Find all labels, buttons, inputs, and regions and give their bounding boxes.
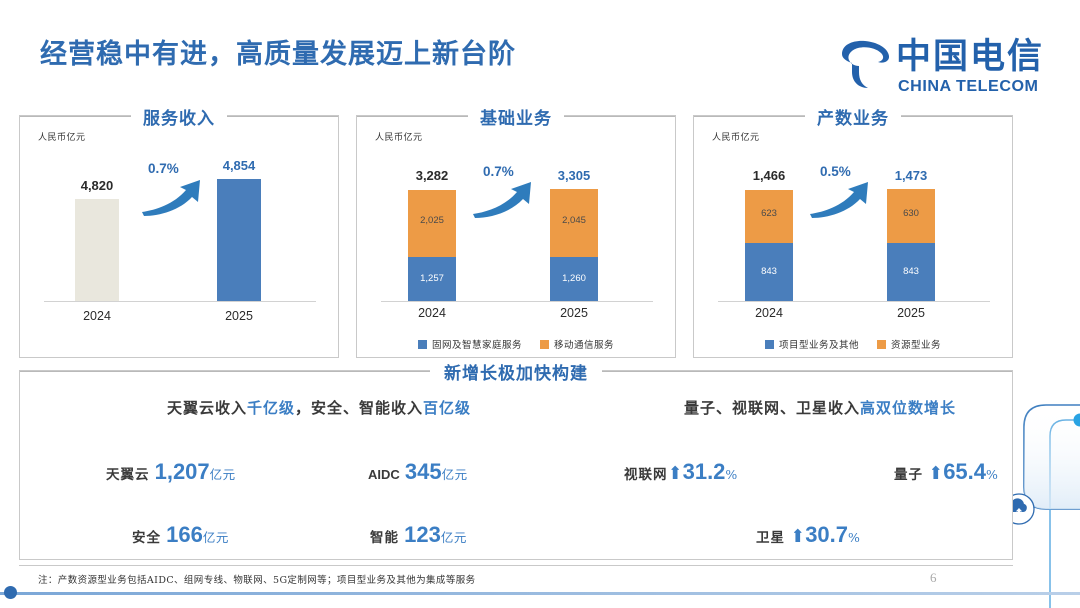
x-label-2024: 2024 — [391, 306, 473, 320]
stat-label: 量子 — [894, 467, 923, 483]
x-label-2024: 2024 — [728, 306, 810, 320]
legend-item-project: 项目型业务及其他 — [765, 337, 859, 351]
stat-unit: % — [725, 467, 737, 482]
segment-label-mobile-2025: 2,045 — [550, 215, 598, 226]
segment-label-resource-2025: 630 — [887, 208, 935, 219]
stat-value: 345 — [405, 459, 442, 484]
legend-label: 资源型业务 — [891, 337, 941, 351]
headline-left-pre: 天翼云收入 — [167, 399, 247, 417]
footnote-text: 注：产数资源型业务包括AIDC、组网专线、物联网、5G定制网等；项目型业务及其他… — [38, 572, 476, 586]
chart-card-industrial-digital: 产数业务 人民币亿元 1,466 623 843 2024 1,473 630 … — [693, 115, 1013, 358]
stat-label: 卫星 — [756, 530, 785, 546]
bar-total-label-2025: 3,305 — [533, 168, 615, 183]
stat-unit: 亿元 — [203, 530, 229, 545]
title-rule-right — [602, 371, 1012, 372]
legend-swatch-orange — [540, 340, 549, 349]
headline-right-highlight: 高双位数增长 — [860, 399, 956, 417]
growth-arrow-icon — [806, 178, 882, 220]
stat-value: 1,207 — [155, 459, 210, 484]
legend-label: 移动通信服务 — [554, 337, 614, 351]
arrow-up-icon: ⬆ — [668, 463, 683, 484]
x-label-2024: 2024 — [62, 309, 132, 323]
stat-unit: 亿元 — [210, 467, 236, 482]
chart-card-service-revenue: 服务收入 人民币亿元 4,820 2024 4,854 2025 0.7% — [19, 115, 339, 358]
stat-quantum: 量子 ⬆65.4% — [894, 459, 998, 485]
bar-total-label-2024: 4,820 — [62, 178, 132, 193]
x-label-2025: 2025 — [204, 309, 274, 323]
segment-label-resource-2024: 623 — [745, 208, 793, 219]
page-number: 6 — [930, 570, 937, 586]
stat-unit: % — [986, 467, 998, 482]
headline-right: 量子、视联网、卫星收入高双位数增长 — [620, 397, 1020, 418]
stat-unit: % — [848, 530, 860, 545]
legend-label: 项目型业务及其他 — [779, 337, 859, 351]
legend-label: 固网及智慧家庭服务 — [432, 337, 522, 351]
bottom-accent-bar — [0, 592, 1080, 595]
stat-satellite: 卫星 ⬆30.7% — [756, 522, 860, 548]
stat-unit: 亿元 — [442, 467, 468, 482]
headline-left-mid: ，安全、智能收入 — [295, 399, 423, 417]
growth-poles-panel: 新增长极加快构建 天翼云收入千亿级，安全、智能收入百亿级 量子、视联网、卫星收入… — [19, 370, 1013, 560]
bar-total-label-2024: 3,282 — [391, 168, 473, 183]
stat-label: 智能 — [370, 530, 399, 546]
stat-intelligence: 智能 123亿元 — [370, 522, 467, 548]
x-axis-line — [381, 301, 653, 302]
segment-label-fixed-2024: 1,257 — [408, 273, 456, 284]
logo-english-text: CHINA TELECOM — [898, 78, 1038, 96]
growth-arrow-icon — [469, 178, 545, 220]
legend-swatch-blue — [765, 340, 774, 349]
stat-tianyi-cloud: 天翼云 1,207亿元 — [106, 459, 236, 485]
panel-title-row: 新增长极加快构建 — [20, 359, 1012, 383]
legend-swatch-blue — [418, 340, 427, 349]
growth-label: 0.7% — [483, 164, 514, 179]
chart-legend: 项目型业务及其他 资源型业务 — [694, 337, 1012, 351]
headline-left-highlight-1: 千亿级 — [247, 399, 295, 417]
title-rule-left — [20, 371, 430, 372]
footnote-divider — [19, 565, 1013, 566]
bar-2024 — [75, 199, 119, 301]
legend-swatch-orange — [877, 340, 886, 349]
x-axis-line — [44, 301, 316, 302]
bar-total-label-2024: 1,466 — [728, 168, 810, 183]
bar-total-label-2025: 1,473 — [870, 168, 952, 183]
chart-card-basic-business: 基础业务 人民币亿元 3,282 2,025 1,257 2024 3,305 … — [356, 115, 676, 358]
plot-area: 3,282 2,025 1,257 2024 3,305 2,045 1,260… — [357, 116, 675, 357]
stat-security: 安全 166亿元 — [132, 522, 229, 548]
stat-value: 31.2 — [683, 459, 726, 484]
stat-video-network: 视联网⬆31.2% — [624, 459, 738, 485]
stat-value: 166 — [166, 522, 203, 547]
stat-unit: 亿元 — [441, 530, 467, 545]
stat-label: 视联网 — [624, 467, 668, 483]
slide-canvas: 经营稳中有进，高质量发展迈上新台阶 中国电信 CHINA TELECOM 服务收… — [0, 0, 1080, 608]
brand-logo: 中国电信 CHINA TELECOM — [836, 36, 1051, 100]
segment-label-project-2025: 843 — [887, 266, 935, 277]
stat-aidc: AIDC 345亿元 — [368, 459, 468, 485]
arrow-up-icon: ⬆ — [928, 463, 943, 484]
stat-label: 安全 — [132, 530, 161, 546]
plot-area: 1,466 623 843 2024 1,473 630 843 2025 0.… — [694, 116, 1012, 357]
headline-left: 天翼云收入千亿级，安全、智能收入百亿级 — [104, 397, 534, 418]
legend-item-mobile: 移动通信服务 — [540, 337, 614, 351]
plot-area: 4,820 2024 4,854 2025 0.7% — [20, 116, 338, 357]
segment-label-fixed-2025: 1,260 — [550, 273, 598, 284]
bar-total-label-2025: 4,854 — [204, 158, 274, 173]
chart-legend: 固网及智慧家庭服务 移动通信服务 — [357, 337, 675, 351]
bar-2025 — [217, 179, 261, 301]
arrow-up-icon: ⬆ — [790, 526, 805, 547]
stat-label: 天翼云 — [106, 467, 150, 483]
bottom-accent-dot — [4, 586, 17, 599]
segment-label-mobile-2024: 2,025 — [408, 215, 456, 226]
stat-value: 123 — [404, 522, 441, 547]
china-telecom-swoosh-icon — [836, 38, 892, 90]
panel-title: 新增长极加快构建 — [430, 359, 602, 384]
headline-left-highlight-2: 百亿级 — [423, 399, 471, 417]
legend-item-resource: 资源型业务 — [877, 337, 941, 351]
headline-right-pre: 量子、视联网、卫星收入 — [684, 399, 860, 417]
growth-label: 0.5% — [820, 164, 851, 179]
legend-item-fixed: 固网及智慧家庭服务 — [418, 337, 522, 351]
growth-arrow-icon — [138, 176, 214, 218]
growth-label: 0.7% — [148, 161, 179, 176]
x-label-2025: 2025 — [870, 306, 952, 320]
stat-value: 30.7 — [805, 522, 848, 547]
page-title: 经营稳中有进，高质量发展迈上新台阶 — [40, 32, 516, 71]
stat-label: AIDC — [368, 467, 400, 482]
x-axis-line — [718, 301, 990, 302]
stat-value: 65.4 — [943, 459, 986, 484]
logo-chinese-text: 中国电信 — [896, 36, 1044, 78]
x-label-2025: 2025 — [533, 306, 615, 320]
segment-label-project-2024: 843 — [745, 266, 793, 277]
